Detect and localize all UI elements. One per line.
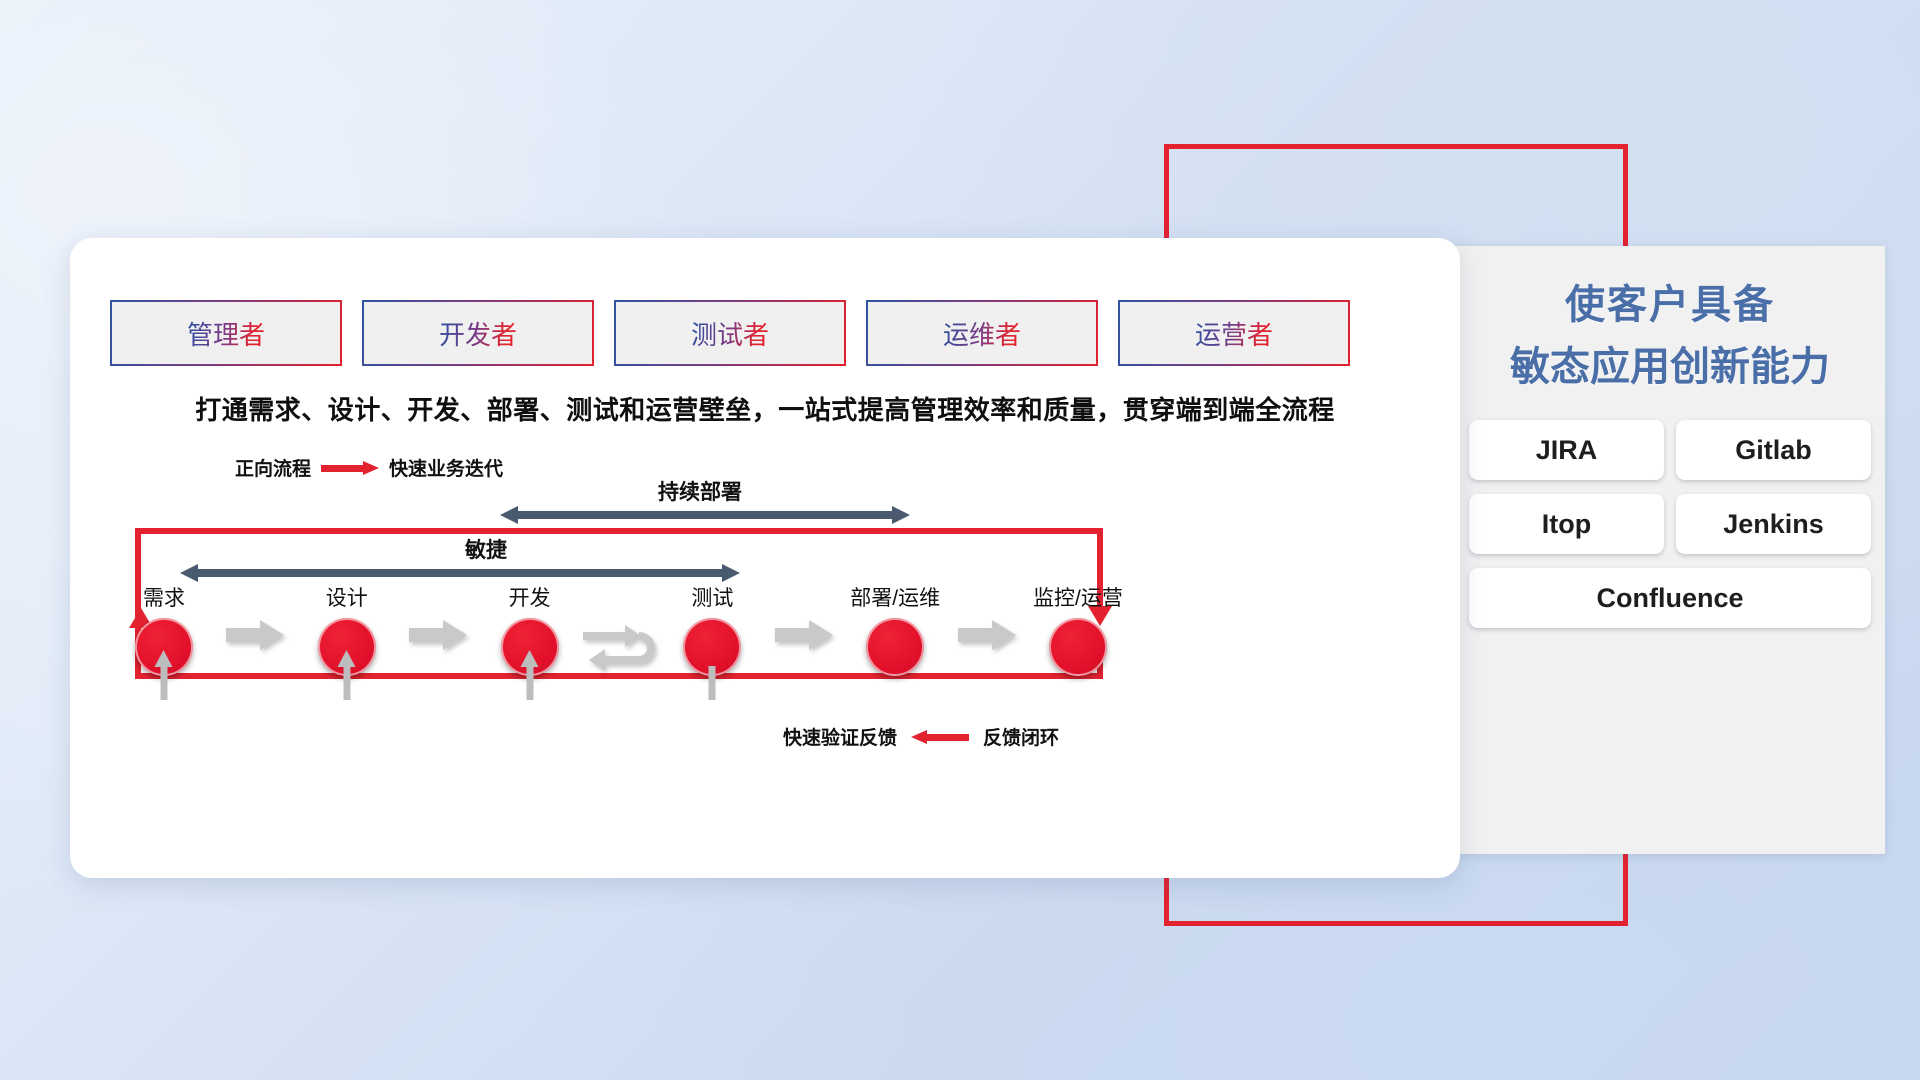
double-arrow-agile-icon xyxy=(180,564,740,582)
role-box-tester[interactable]: 测试者 xyxy=(614,300,846,366)
stage-riser-icon xyxy=(526,666,533,700)
double-arrow-continuous-deployment-icon xyxy=(500,506,910,524)
value-proposition-panel: 使客户具备 敏态应用创新能力 JIRA Gitlab Itop Jenkins … xyxy=(1455,246,1885,854)
stage-label: 需求 xyxy=(116,582,212,612)
arrow-right-gray-icon xyxy=(226,620,284,650)
pipeline-connector-3 xyxy=(760,582,847,650)
legend-feedback-loop: 快速验证反馈 反馈闭环 xyxy=(783,723,1059,750)
stage-riser-icon xyxy=(709,666,716,700)
arrow-uturn-loop-icon xyxy=(581,620,661,676)
pipeline-connector-uturn xyxy=(578,582,665,676)
tool-chip-jenkins[interactable]: Jenkins xyxy=(1676,494,1871,554)
arrow-right-gray-icon xyxy=(958,620,1016,650)
legend-forward-flow: 正向流程 快速业务迭代 xyxy=(235,454,503,481)
pipeline-stage-deploy-ops[interactable]: 部署/运维 xyxy=(847,582,943,676)
tool-chip-jira[interactable]: JIRA xyxy=(1469,420,1664,480)
pipeline-stage-testing[interactable]: 测试 xyxy=(664,582,760,676)
panel-title-line-1: 使客户具备 xyxy=(1455,274,1885,336)
label-continuous-deployment: 持续部署 xyxy=(658,476,742,506)
pipeline-stage-monitor-operations[interactable]: 监控/运营 xyxy=(1030,582,1126,676)
legend-feedback-right-label: 反馈闭环 xyxy=(983,723,1059,750)
panel-title-line-2: 敏态应用创新能力 xyxy=(1455,336,1885,398)
stage-label: 部署/运维 xyxy=(847,582,943,612)
main-diagram-card: 管理者 开发者 测试者 运维者 运营者 打通需求、设计、开发、部署、测试和运营壁… xyxy=(70,238,1460,878)
role-box-row: 管理者 开发者 测试者 运维者 运营者 xyxy=(110,300,1350,366)
legend-feedback-left-label: 快速验证反馈 xyxy=(783,723,897,750)
stage-label: 设计 xyxy=(299,582,395,612)
tool-chip-gitlab[interactable]: Gitlab xyxy=(1676,420,1871,480)
stage-riser-icon xyxy=(161,666,168,700)
pipeline-stage-requirement[interactable]: 需求 xyxy=(116,582,212,676)
role-box-operator[interactable]: 运营者 xyxy=(1118,300,1350,366)
stage-label: 监控/运营 xyxy=(1030,582,1126,612)
pipeline-connector-1 xyxy=(212,582,299,650)
stage-label: 开发 xyxy=(482,582,578,612)
arrow-right-gray-icon xyxy=(409,620,467,650)
stage-dot xyxy=(866,618,924,676)
role-box-manager[interactable]: 管理者 xyxy=(110,300,342,366)
pipeline-stage-design[interactable]: 设计 xyxy=(299,582,395,676)
panel-title: 使客户具备 敏态应用创新能力 xyxy=(1455,274,1885,398)
pipeline-stage-development[interactable]: 开发 xyxy=(482,582,578,676)
tool-chip-grid: JIRA Gitlab Itop Jenkins Confluence xyxy=(1469,420,1871,628)
arrow-left-red-icon xyxy=(911,730,969,743)
arrow-right-gray-icon xyxy=(775,620,833,650)
stage-riser-icon xyxy=(343,666,350,700)
tool-chip-itop[interactable]: Itop xyxy=(1469,494,1664,554)
arrow-right-red-icon xyxy=(321,461,379,474)
stage-label: 测试 xyxy=(664,582,760,612)
tool-chip-confluence[interactable]: Confluence xyxy=(1469,568,1871,628)
label-agile: 敏捷 xyxy=(465,534,507,564)
role-box-developer[interactable]: 开发者 xyxy=(362,300,594,366)
stage-dot xyxy=(1049,618,1107,676)
pipeline-connector-2 xyxy=(395,582,482,650)
role-box-ops[interactable]: 运维者 xyxy=(866,300,1098,366)
pipeline-connector-4 xyxy=(943,582,1030,650)
legend-forward-left-label: 正向流程 xyxy=(235,454,311,481)
legend-forward-right-label: 快速业务迭代 xyxy=(389,454,503,481)
loop-track-top xyxy=(135,528,1103,534)
pipeline-row: 需求 设计 开发 xyxy=(116,582,1126,676)
headline-text: 打通需求、设计、开发、部署、测试和运营壁垒，一站式提高管理效率和质量，贯穿端到端… xyxy=(70,390,1460,427)
